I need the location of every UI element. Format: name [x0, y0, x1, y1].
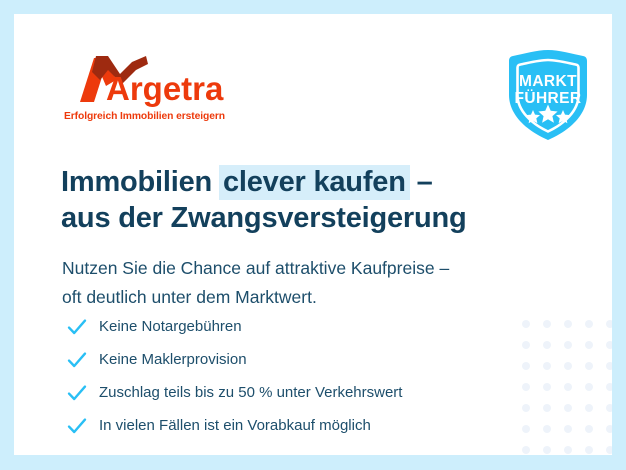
- list-item-label: Zuschlag teils bis zu 50 % unter Verkehr…: [99, 383, 402, 403]
- list-item: In vielen Fällen ist ein Vorabkauf mögli…: [66, 411, 516, 441]
- page-title: Immobilien clever kaufen – aus der Zwang…: [61, 164, 581, 236]
- decorative-dot: [564, 383, 572, 391]
- badge-line-2: FÜHRER: [515, 90, 582, 107]
- decorative-dot: [543, 404, 551, 412]
- market-leader-badge: MARKT FÜHRER: [501, 47, 595, 143]
- decorative-dot: [543, 320, 551, 328]
- decorative-dot: [522, 341, 530, 349]
- decorative-dot: [585, 404, 593, 412]
- decorative-dot: [564, 404, 572, 412]
- decorative-dot: [522, 425, 530, 433]
- decorative-dot: [606, 383, 612, 391]
- decorative-dot: [585, 320, 593, 328]
- check-icon: [66, 316, 88, 338]
- headline-part-1: Immobilien: [61, 166, 220, 198]
- decorative-dot: [564, 362, 572, 370]
- decorative-dot: [606, 362, 612, 370]
- list-item-label: Keine Notargebühren: [99, 317, 242, 337]
- decorative-dot-grid: [522, 320, 612, 455]
- list-item: Keine Notargebühren: [66, 312, 516, 342]
- check-icon: [66, 415, 88, 437]
- decorative-dot: [522, 320, 530, 328]
- decorative-dot: [606, 425, 612, 433]
- promo-card: Argetra Erfolgreich Immobilien ersteiger…: [14, 14, 612, 455]
- decorative-dot: [543, 362, 551, 370]
- decorative-dot: [585, 362, 593, 370]
- list-item: Zuschlag teils bis zu 50 % unter Verkehr…: [66, 378, 516, 408]
- decorative-dot: [543, 341, 551, 349]
- argetra-logo: Argetra Erfolgreich Immobilien ersteiger…: [58, 52, 248, 126]
- decorative-dot: [543, 383, 551, 391]
- decorative-dot: [585, 383, 593, 391]
- list-item-label: Keine Maklerprovision: [99, 350, 247, 370]
- decorative-dot: [522, 362, 530, 370]
- page-frame: Argetra Erfolgreich Immobilien ersteiger…: [0, 0, 626, 470]
- decorative-dot: [606, 446, 612, 454]
- benefits-list: Keine Notargebühren Keine Maklerprovisio…: [66, 312, 516, 444]
- list-item: Keine Maklerprovision: [66, 345, 516, 375]
- decorative-dot: [564, 446, 572, 454]
- decorative-dot: [564, 425, 572, 433]
- decorative-dot: [522, 446, 530, 454]
- logo-wordmark: Argetra: [106, 70, 224, 107]
- logo-tagline: Erfolgreich Immobilien ersteigern: [64, 111, 225, 122]
- decorative-dot: [564, 320, 572, 328]
- decorative-dot: [543, 425, 551, 433]
- decorative-dot: [522, 404, 530, 412]
- decorative-dot: [585, 341, 593, 349]
- decorative-dot: [606, 404, 612, 412]
- subheading: Nutzen Sie die Chance auf attraktive Kau…: [62, 254, 582, 312]
- subheading-line-2: oft deutlich unter dem Marktwert.: [62, 283, 582, 312]
- decorative-dot: [585, 446, 593, 454]
- decorative-dot: [564, 341, 572, 349]
- headline-line-2: aus der Zwangsversteigerung: [61, 200, 581, 236]
- decorative-dot: [606, 341, 612, 349]
- decorative-dot: [585, 425, 593, 433]
- check-icon: [66, 382, 88, 404]
- decorative-dot: [606, 320, 612, 328]
- subheading-line-1: Nutzen Sie die Chance auf attraktive Kau…: [62, 254, 582, 283]
- decorative-dot: [522, 383, 530, 391]
- headline-part-2: –: [409, 166, 433, 198]
- decorative-dot: [543, 446, 551, 454]
- badge-line-1: MARKT: [519, 73, 577, 90]
- check-icon: [66, 349, 88, 371]
- headline-highlight: clever kaufen: [219, 165, 410, 200]
- list-item-label: In vielen Fällen ist ein Vorabkauf mögli…: [99, 416, 371, 436]
